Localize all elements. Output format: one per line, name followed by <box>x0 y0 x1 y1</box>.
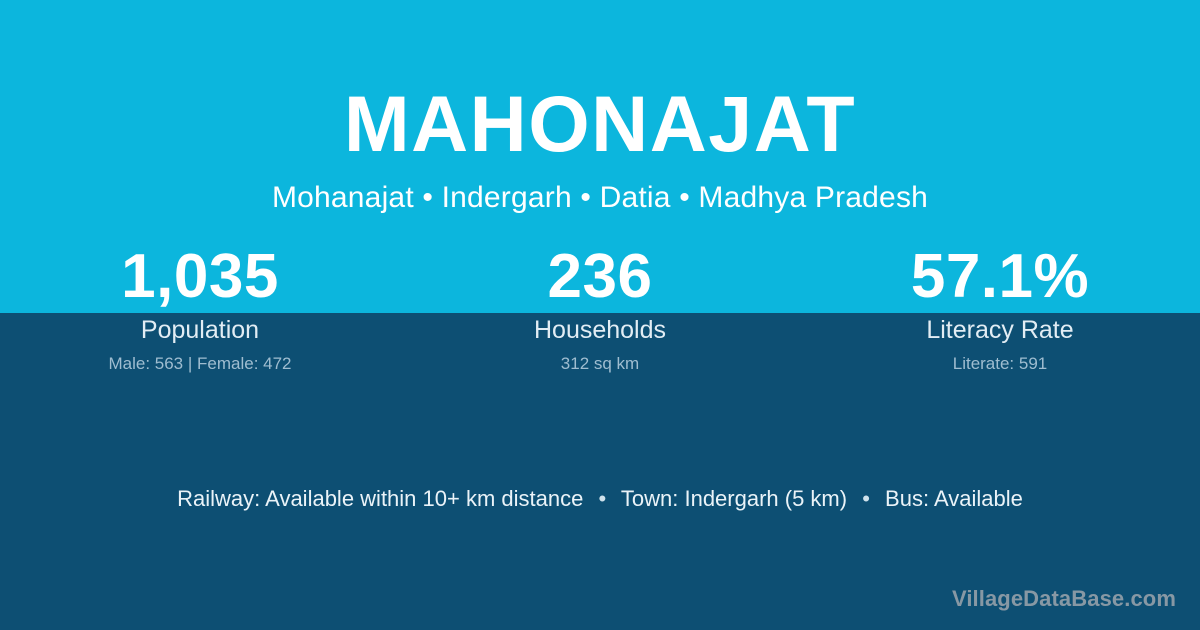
card-header: MAHONAJAT Mohanajat • Indergarh • Datia … <box>0 0 1200 216</box>
stat-label: Literacy Rate <box>800 315 1200 345</box>
village-info-card: MAHONAJAT Mohanajat • Indergarh • Datia … <box>0 0 1200 630</box>
facilities-line: Railway: Available within 10+ km distanc… <box>0 484 1200 514</box>
facility-railway: Railway: Available within 10+ km distanc… <box>177 486 583 511</box>
stat-population: 1,035 Population Male: 563 | Female: 472 <box>0 248 400 375</box>
stat-households: 236 Households 312 sq km <box>400 248 800 375</box>
stat-subtext: 312 sq km <box>400 353 800 375</box>
stat-label: Population <box>0 315 400 345</box>
facility-separator: • <box>853 484 879 514</box>
village-title: MAHONAJAT <box>0 84 1200 163</box>
stat-value: 57.1% <box>800 248 1200 306</box>
stat-subtext: Literate: 591 <box>800 353 1200 375</box>
facility-bus: Bus: Available <box>885 486 1023 511</box>
stat-value: 1,035 <box>0 248 400 306</box>
stat-label: Households <box>400 315 800 345</box>
stat-value: 236 <box>400 248 800 306</box>
stat-subtext: Male: 563 | Female: 472 <box>0 353 400 375</box>
stats-row: 1,035 Population Male: 563 | Female: 472… <box>0 248 1200 375</box>
stat-literacy-rate: 57.1% Literacy Rate Literate: 591 <box>800 248 1200 375</box>
site-watermark: VillageDataBase.com <box>952 586 1176 612</box>
village-location-breadcrumb: Mohanajat • Indergarh • Datia • Madhya P… <box>0 180 1200 216</box>
facility-town: Town: Indergarh (5 km) <box>621 486 847 511</box>
facility-separator: • <box>589 484 615 514</box>
